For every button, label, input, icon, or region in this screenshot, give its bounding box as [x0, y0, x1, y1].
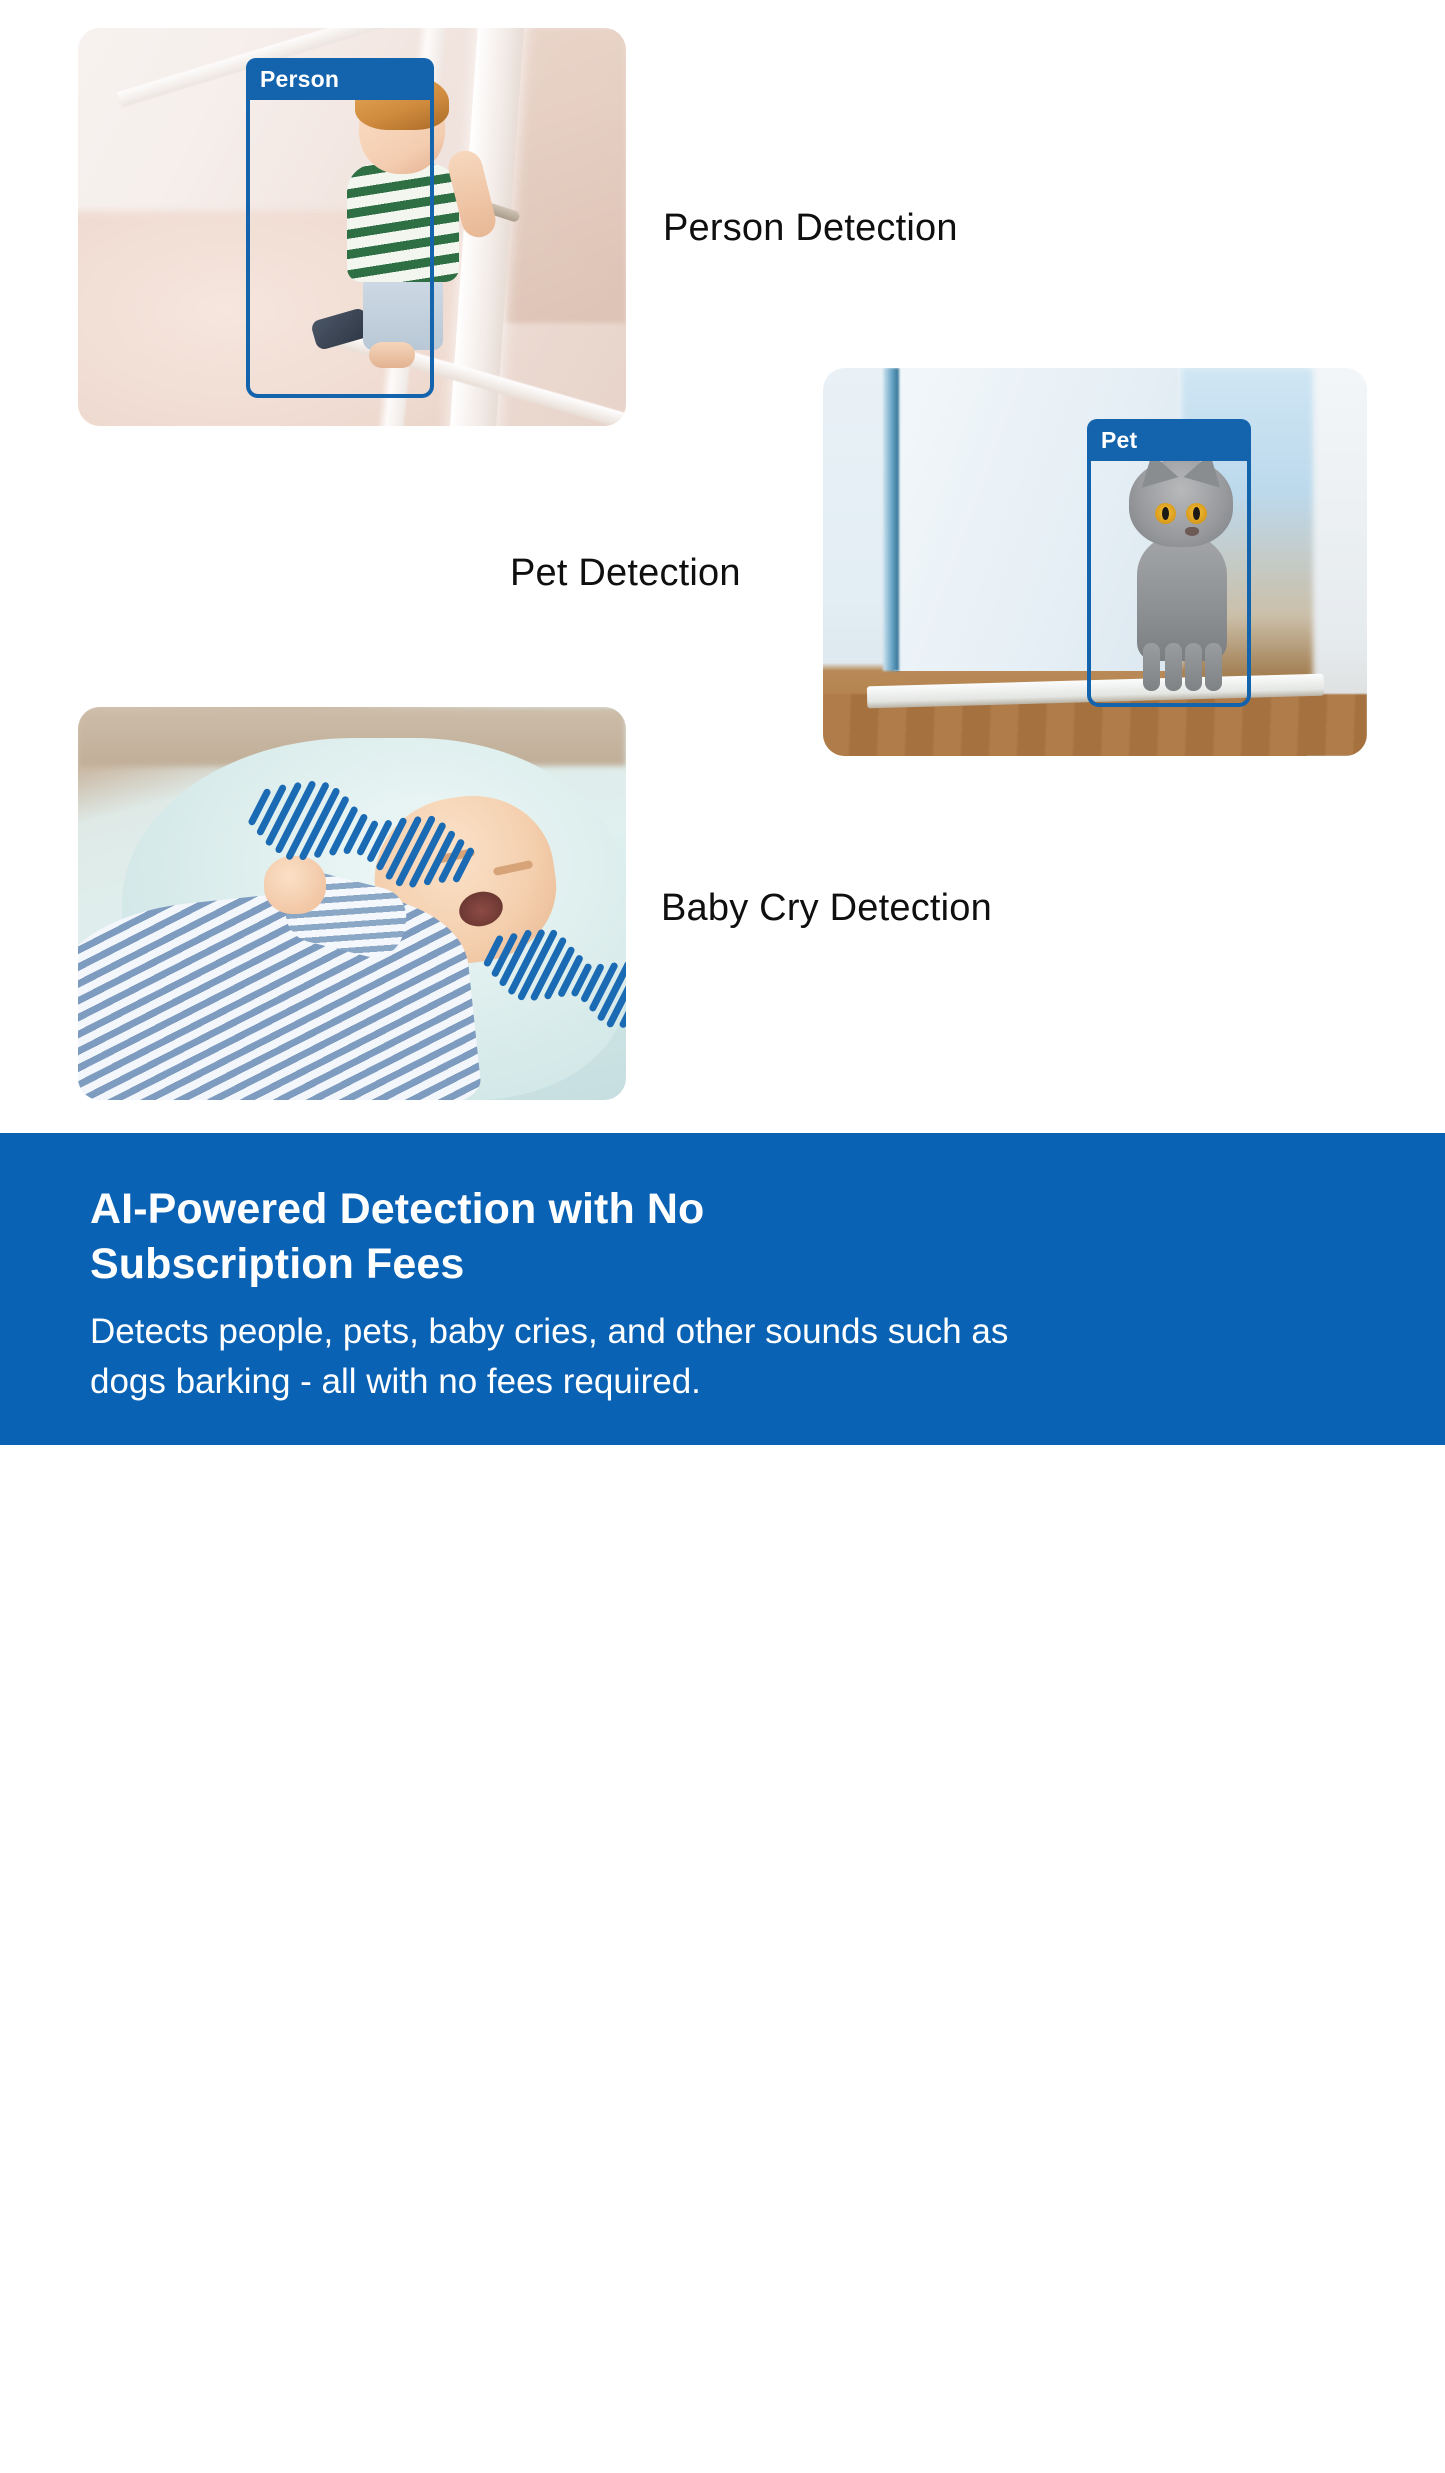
- pet-bounding-box-label: Pet: [1087, 419, 1251, 461]
- sound-wave-icon-lower: [490, 907, 626, 1023]
- bottom-banner: AI-Powered Detection with No Subscriptio…: [0, 1133, 1445, 1445]
- baby-cry-detection-photo: [78, 707, 626, 1100]
- person-detection-caption: Person Detection: [663, 207, 958, 250]
- marketing-page: Person Person Detection: [0, 0, 1445, 1445]
- pet-detection-caption: Pet Detection: [510, 552, 741, 595]
- door-jamb-decor: [883, 368, 899, 671]
- banner-headline: AI-Powered Detection with No Subscriptio…: [90, 1182, 890, 1291]
- wall-decor: [505, 28, 626, 323]
- baby-cry-detection-caption: Baby Cry Detection: [661, 887, 992, 930]
- pet-detection-photo: Pet: [823, 368, 1367, 756]
- person-bounding-box-label: Person: [246, 58, 434, 100]
- banner-subline: Detects people, pets, baby cries, and ot…: [90, 1307, 1090, 1408]
- sound-wave-icon-upper: [256, 755, 486, 883]
- pet-bounding-box: Pet: [1087, 419, 1251, 707]
- person-detection-photo: Person: [78, 28, 626, 426]
- tapo-logo: [1120, 2377, 1360, 2473]
- person-bounding-box: Person: [246, 58, 434, 398]
